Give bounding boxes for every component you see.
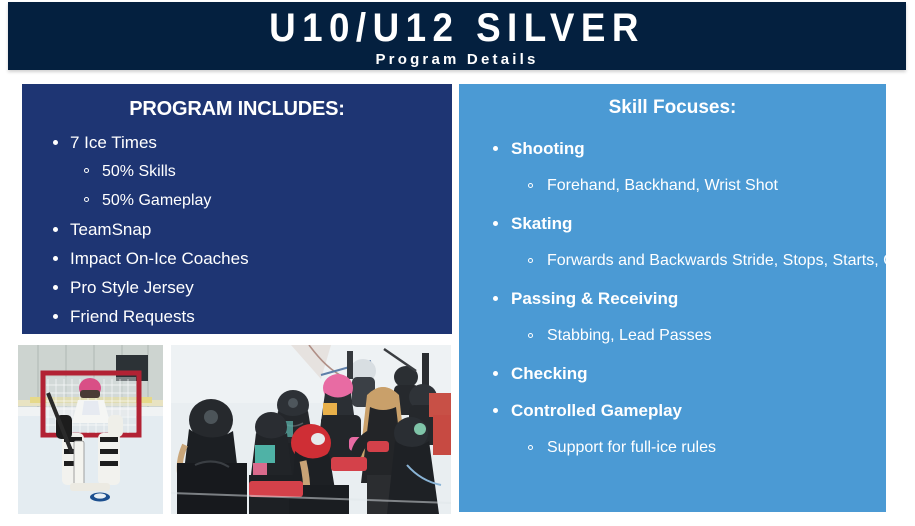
- list-item-label: TeamSnap: [70, 220, 151, 239]
- program-details-slide: U10/U12 SILVER Program Details PROGRAM I…: [0, 0, 915, 526]
- list-item: Friend Requests: [70, 302, 438, 331]
- skill-focuses-sublist: Forwards and Backwards Stride, Stops, St…: [511, 242, 874, 280]
- skill-focuses-title: Skill Focuses:: [471, 95, 874, 121]
- page-title: U10/U12 SILVER: [44, 6, 870, 50]
- program-includes-list: 7 Ice Times 50% Skills 50% Gameplay Team…: [36, 128, 438, 331]
- list-item-label: 50% Gameplay: [102, 192, 211, 209]
- list-item: TeamSnap: [70, 215, 438, 244]
- list-item: Controlled Gameplay Support for full-ice…: [511, 392, 874, 467]
- list-item-label: 7 Ice Times: [70, 133, 157, 152]
- list-item: Checking: [511, 355, 874, 392]
- list-item: Forehand, Backhand, Wrist Shot: [547, 167, 874, 205]
- skill-focuses-sublist: Forehand, Backhand, Wrist Shot: [511, 167, 874, 205]
- list-item-label: Checking: [511, 364, 588, 383]
- list-item: Skating Forwards and Backwards Stride, S…: [511, 205, 874, 280]
- list-item: Forwards and Backwards Stride, Stops, St…: [547, 242, 874, 280]
- list-item-label: Support for full-ice rules: [547, 439, 716, 456]
- program-includes-panel: PROGRAM INCLUDES: 7 Ice Times 50% Skills…: [22, 84, 452, 334]
- list-item: Pro Style Jersey: [70, 273, 438, 302]
- list-item: Shooting Forehand, Backhand, Wrist Shot: [511, 130, 874, 205]
- list-item-label: Forehand, Backhand, Wrist Shot: [547, 177, 778, 194]
- list-item-label: Friend Requests: [70, 307, 195, 326]
- list-item: 50% Skills: [102, 157, 438, 186]
- list-item: Impact On-Ice Coaches: [70, 244, 438, 273]
- list-item: Passing & Receiving Stabbing, Lead Passe…: [511, 280, 874, 355]
- huddle-photo-art: [171, 345, 451, 514]
- skill-focuses-sublist: Support for full-ice rules: [511, 429, 874, 467]
- program-includes-title: PROGRAM INCLUDES:: [36, 96, 438, 122]
- list-item-label: Impact On-Ice Coaches: [70, 249, 249, 268]
- list-item: 50% Gameplay: [102, 186, 438, 215]
- list-item-label: 50% Skills: [102, 163, 176, 180]
- list-item-label: Controlled Gameplay: [511, 401, 682, 420]
- program-includes-sublist: 50% Skills 50% Gameplay: [70, 157, 438, 215]
- page-subtitle: Program Details: [8, 51, 906, 69]
- skill-focuses-list: Shooting Forehand, Backhand, Wrist Shot …: [471, 130, 874, 467]
- goalie-in-net-photo: [18, 345, 163, 514]
- list-item: 7 Ice Times 50% Skills 50% Gameplay: [70, 128, 438, 215]
- list-item: Support for full-ice rules: [547, 429, 874, 467]
- list-item-label: Forwards and Backwards Stride, Stops, St…: [547, 252, 886, 269]
- goalie-photo-art: [18, 345, 163, 514]
- list-item-label: Shooting: [511, 139, 585, 158]
- list-item-label: Passing & Receiving: [511, 289, 678, 308]
- team-huddle-photo: [171, 345, 451, 514]
- list-item-label: Skating: [511, 214, 572, 233]
- list-item-label: Pro Style Jersey: [70, 278, 194, 297]
- skill-focuses-panel: Skill Focuses: Shooting Forehand, Backha…: [459, 84, 886, 512]
- header-banner: U10/U12 SILVER Program Details: [8, 2, 906, 70]
- list-item-label: Stabbing, Lead Passes: [547, 327, 712, 344]
- skill-focuses-sublist: Stabbing, Lead Passes: [511, 317, 874, 355]
- list-item: Stabbing, Lead Passes: [547, 317, 874, 355]
